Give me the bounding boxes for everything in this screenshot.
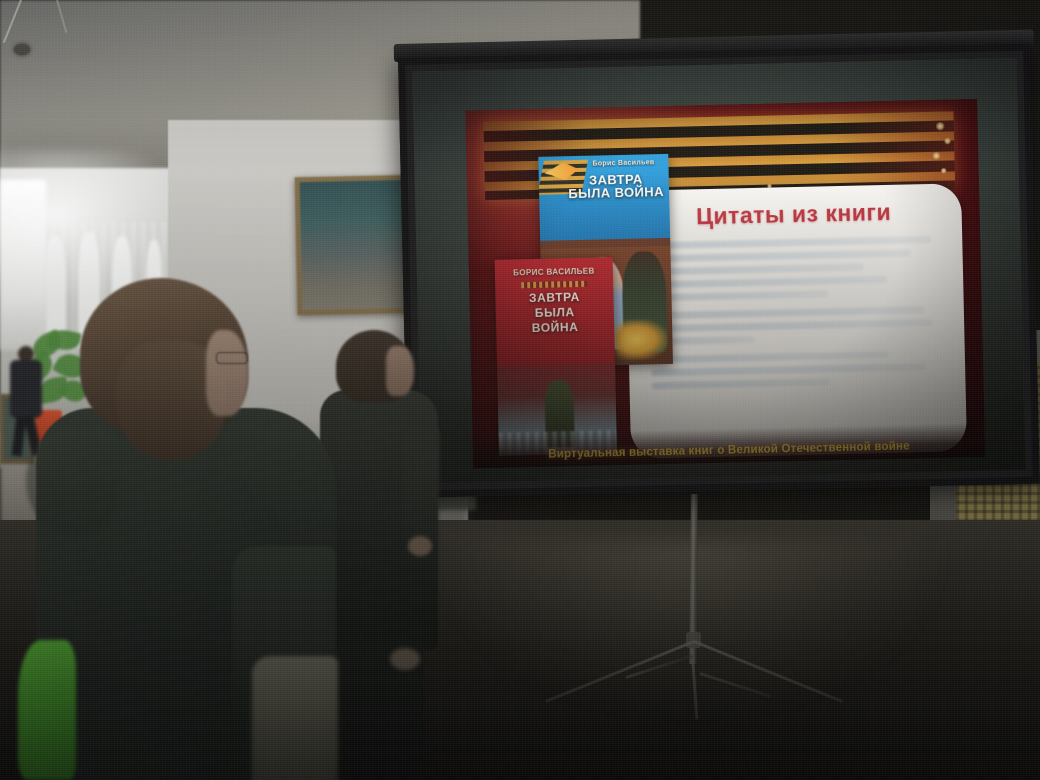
text-line	[651, 351, 889, 363]
text-line	[650, 319, 933, 332]
projection-screen: Цитаты из книги « Учитесь не только прав…	[398, 44, 1040, 498]
book-title: ЗАВТРА БЫЛА ВОЙНА	[567, 172, 666, 200]
firework-spark-icon	[941, 168, 947, 174]
text-line	[651, 378, 830, 389]
slide-title: Цитаты из книги	[625, 197, 962, 232]
quote-paragraph: « Учитесь не только прав, не только в св…	[648, 236, 947, 302]
book-ribbon-rule	[521, 281, 587, 288]
text-line	[650, 306, 924, 319]
book-flower	[615, 319, 668, 360]
slide-quotes-body: « Учитесь не только прав, не только в св…	[648, 236, 950, 401]
quote-paragraph: « Не смейте забывать учителей. Ах, как н…	[650, 306, 949, 346]
photo-scene: Цитаты из книги « Учитесь не только прав…	[0, 0, 1040, 780]
viewer-second-hand-lower	[390, 648, 420, 670]
text-line	[649, 263, 864, 275]
viewer-second-hand	[408, 536, 432, 556]
viewer-second-face	[386, 346, 414, 396]
viewer-foreground-face	[206, 330, 248, 416]
text-line	[651, 363, 925, 376]
screen-surface: Цитаты из книги « Учитесь не только прав…	[412, 58, 1025, 484]
book-author: БОРИС ВАСИЛЬЕВ	[495, 266, 613, 278]
glasses-icon	[216, 352, 248, 364]
text-line	[648, 236, 931, 249]
quote-paragraph: « Настоящее признание есть, когда тот, к…	[651, 350, 950, 390]
screen-frame: Цитаты из книги « Учитесь не только прав…	[398, 44, 1040, 498]
viewer-foreground-bag	[252, 656, 338, 780]
text-line	[649, 276, 887, 288]
ceiling-lamp-icon	[14, 44, 30, 55]
book-title-line: ВОЙНА	[496, 319, 614, 337]
text-line	[649, 290, 828, 301]
book-title-line: БЫЛА ВОЙНА	[567, 185, 665, 200]
quotes-card: Цитаты из книги « Учитесь не только прав…	[625, 183, 967, 459]
presentation-slide: Цитаты из книги « Учитесь не только прав…	[465, 99, 985, 469]
text-line	[649, 249, 911, 262]
book-title: ЗАВТРА БЫЛА ВОЙНА	[495, 289, 614, 337]
viewer-foreground-hood	[26, 428, 118, 534]
green-bag	[18, 640, 76, 780]
book-cover-red: БОРИС ВАСИЛЬЕВ ЗАВТРА БЫЛА ВОЙНА	[495, 257, 617, 456]
